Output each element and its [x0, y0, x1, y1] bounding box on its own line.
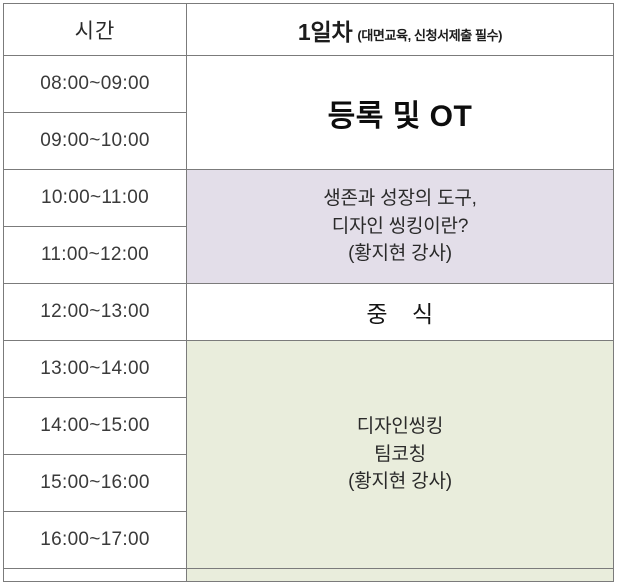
session-text-block: 디자인씽킹 팀코칭 (황지현 강사): [187, 413, 613, 496]
time-slot-1100-1200: 11:00~12:00: [4, 227, 187, 284]
time-slot-1300-1400: 13:00~14:00: [4, 341, 187, 398]
session-text-block: 생존과 성장의 도구, 디자인 씽킹이란? (황지현 강사): [187, 185, 613, 268]
table-row: 13:00~14:00 디자인씽킹 팀코칭 (황지현 강사): [4, 341, 614, 398]
time-slot-1400-1500: 14:00~15:00: [4, 398, 187, 455]
session-line: 팀코칭: [187, 441, 613, 469]
time-slot-0800-0900: 08:00~09:00: [4, 56, 187, 113]
column-header-day1-note: (대면교육, 신청서제출 필수): [357, 28, 502, 43]
time-slot-1000-1100: 10:00~11:00: [4, 170, 187, 227]
table-row-clipped: [4, 569, 614, 582]
column-header-day1: 1일차(대면교육, 신청서제출 필수): [187, 4, 614, 56]
table-row: 10:00~11:00 생존과 성장의 도구, 디자인 씽킹이란? (황지현 강…: [4, 170, 614, 227]
time-slot-1200-1300: 12:00~13:00: [4, 284, 187, 341]
table-row: 12:00~13:00 중식: [4, 284, 614, 341]
schedule-table: 시간 1일차(대면교육, 신청서제출 필수) 08:00~09:00 등록 및 …: [3, 3, 614, 582]
session-registration-ot: 등록 및 OT: [187, 56, 614, 170]
lunch-label-part2: 식: [412, 301, 434, 327]
schedule-sheet: 시간 1일차(대면교육, 신청서제출 필수) 08:00~09:00 등록 및 …: [3, 3, 613, 582]
table-row: 08:00~09:00 등록 및 OT: [4, 56, 614, 113]
session-line: 생존과 성장의 도구,: [187, 185, 613, 213]
time-slot-clipped: [4, 569, 187, 582]
column-header-day1-label: 1일차: [298, 19, 353, 45]
session-line: 디자인 씽킹이란?: [187, 213, 613, 241]
session-line-instructor: (황지현 강사): [187, 240, 613, 268]
session-design-thinking-team-coaching: 디자인씽킹 팀코칭 (황지현 강사): [187, 341, 614, 569]
lunch-label-part1: 중: [366, 301, 388, 327]
session-lunch: 중식: [187, 284, 614, 341]
time-slot-0900-1000: 09:00~10:00: [4, 113, 187, 170]
session-clipped: [187, 569, 614, 582]
time-slot-1600-1700: 16:00~17:00: [4, 512, 187, 569]
session-line: 디자인씽킹: [187, 413, 613, 441]
table-header-row: 시간 1일차(대면교육, 신청서제출 필수): [4, 4, 614, 56]
session-design-thinking-intro: 생존과 성장의 도구, 디자인 씽킹이란? (황지현 강사): [187, 170, 614, 284]
time-slot-1500-1600: 15:00~16:00: [4, 455, 187, 512]
column-header-time: 시간: [4, 4, 187, 56]
session-line-instructor: (황지현 강사): [187, 468, 613, 496]
